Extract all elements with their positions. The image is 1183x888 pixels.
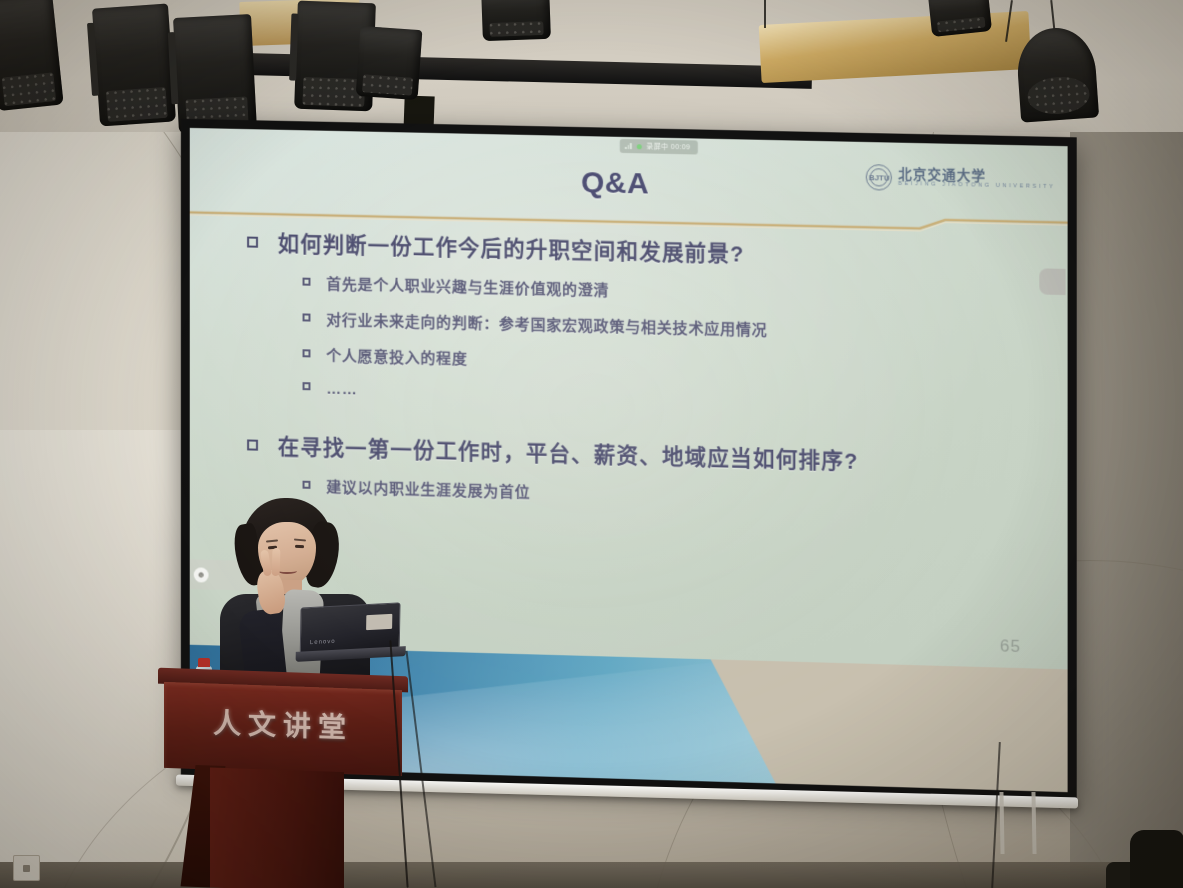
stage-light	[928, 0, 992, 37]
square-bullet-icon	[247, 237, 258, 248]
bullet-text: 如何判断一份工作今后的升职空间和发展前景?	[278, 227, 745, 268]
square-bullet-icon	[303, 313, 311, 321]
bullet-text: 首先是个人职业兴趣与生涯价值观的澄清	[326, 273, 609, 300]
stage-light	[0, 0, 64, 111]
square-bullet-icon	[247, 439, 258, 450]
bullet-level2: 个人愿意投入的程度	[303, 344, 1042, 383]
audience-chair	[1130, 830, 1183, 888]
square-bullet-icon	[303, 278, 311, 286]
bullet-level2: 建议以内职业生涯发展为首位	[303, 476, 1042, 516]
university-name-en: BEIJING JIAOTONG UNIVERSITY	[898, 182, 1055, 191]
ceiling-area	[0, 0, 1183, 132]
laptop-brand-label: Lenovo	[310, 639, 336, 646]
bullet-text: 对行业未来走向的判断：参考国家宏观政策与相关技术应用情况	[326, 309, 767, 340]
laptop[interactable]: Lenovo	[299, 602, 400, 669]
stage-light	[356, 26, 423, 100]
podium-column	[210, 767, 344, 888]
presenter	[196, 498, 386, 698]
stage-light	[92, 3, 176, 126]
university-seal-icon: BJTU	[866, 164, 892, 191]
bullet-text: 个人愿意投入的程度	[326, 345, 467, 369]
bullet-level2: 对行业未来走向的判断：参考国家宏观政策与相关技术应用情况	[303, 308, 1042, 346]
bullet-text: ……	[326, 381, 357, 399]
mouth	[278, 568, 297, 574]
slide-bullet-list: 如何判断一份工作今后的升职空间和发展前景? 首先是个人职业兴趣与生涯价值观的澄清…	[233, 226, 1041, 516]
bullet-level2: ……	[303, 380, 1042, 415]
stage-light	[173, 14, 257, 134]
square-bullet-icon	[303, 349, 311, 357]
bullet-level2: 首先是个人职业兴趣与生涯价值观的澄清	[303, 273, 1042, 311]
square-bullet-icon	[303, 481, 311, 489]
lecture-podium: 人文讲堂	[158, 668, 408, 888]
seal-text: BJTU	[869, 173, 890, 182]
eye-right	[295, 545, 304, 548]
podium-venue-sign: 人文讲堂	[164, 700, 402, 748]
light-cable	[764, 0, 766, 28]
stage-light	[481, 0, 551, 41]
screen-osd-right[interactable]	[1039, 268, 1065, 295]
bullet-text: 在寻找一第一份工作时，平台、薪资、地域应当如何排序?	[278, 430, 859, 476]
wall-power-outlet	[13, 855, 40, 881]
podium-front-panel: 人文讲堂	[164, 682, 402, 776]
bullet-level1: 在寻找一第一份工作时，平台、薪资、地域应当如何排序?	[247, 430, 1041, 481]
notification-label: 录屏中 00:09	[646, 141, 690, 152]
laptop-sticker	[366, 614, 392, 630]
laptop-screen-lid: Lenovo	[300, 602, 401, 653]
bottle-cap	[198, 658, 210, 667]
screen-recording-notification: 录屏中 00:09	[620, 139, 698, 155]
university-logo: BJTU 北京交通大学 BEIJING JIAOTONG UNIVERSITY	[866, 164, 1055, 194]
status-dot-icon	[636, 144, 641, 149]
slide-page-number: 65	[1000, 636, 1021, 657]
square-bullet-icon	[303, 382, 311, 390]
signal-bars-icon	[625, 143, 631, 149]
finger	[272, 548, 281, 576]
lecture-hall-photo: 录屏中 00:09 BJTU 北京交通大学 BEIJING JIAOTONG U…	[0, 0, 1183, 888]
